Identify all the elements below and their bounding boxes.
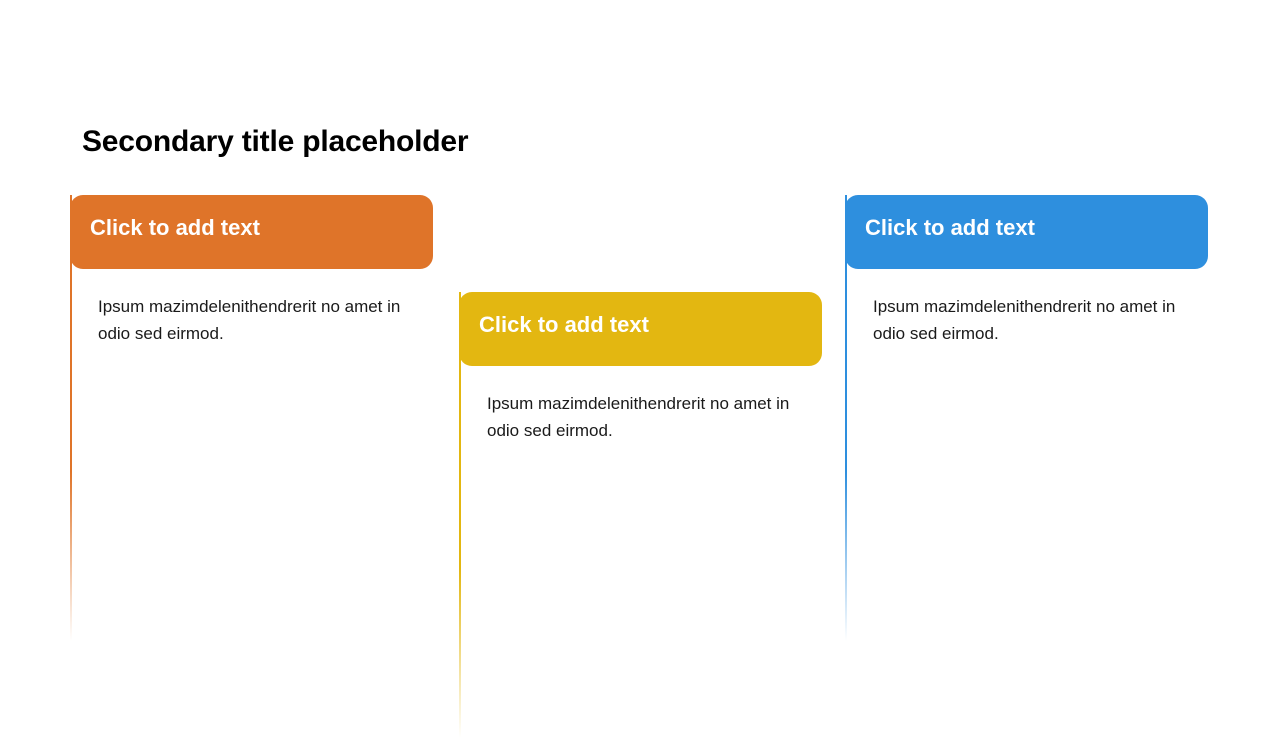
- column-body-text[interactable]: Ipsum mazimdelenithendrerit no amet in o…: [873, 293, 1203, 347]
- column-body-text[interactable]: Ipsum mazimdelenithendrerit no amet in o…: [487, 390, 817, 444]
- text-placeholder-card-2[interactable]: Click to add text: [459, 292, 822, 366]
- card-heading-label: Click to add text: [865, 215, 1035, 241]
- card-heading-label: Click to add text: [479, 312, 649, 338]
- page-title: Secondary title placeholder: [82, 125, 468, 159]
- text-placeholder-card-1[interactable]: Click to add text: [70, 195, 433, 269]
- column-body-text[interactable]: Ipsum mazimdelenithendrerit no amet in o…: [98, 293, 428, 347]
- slide-canvas: Secondary title placeholder Click to add…: [0, 0, 1280, 720]
- text-placeholder-card-3[interactable]: Click to add text: [845, 195, 1208, 269]
- card-heading-label: Click to add text: [90, 215, 260, 241]
